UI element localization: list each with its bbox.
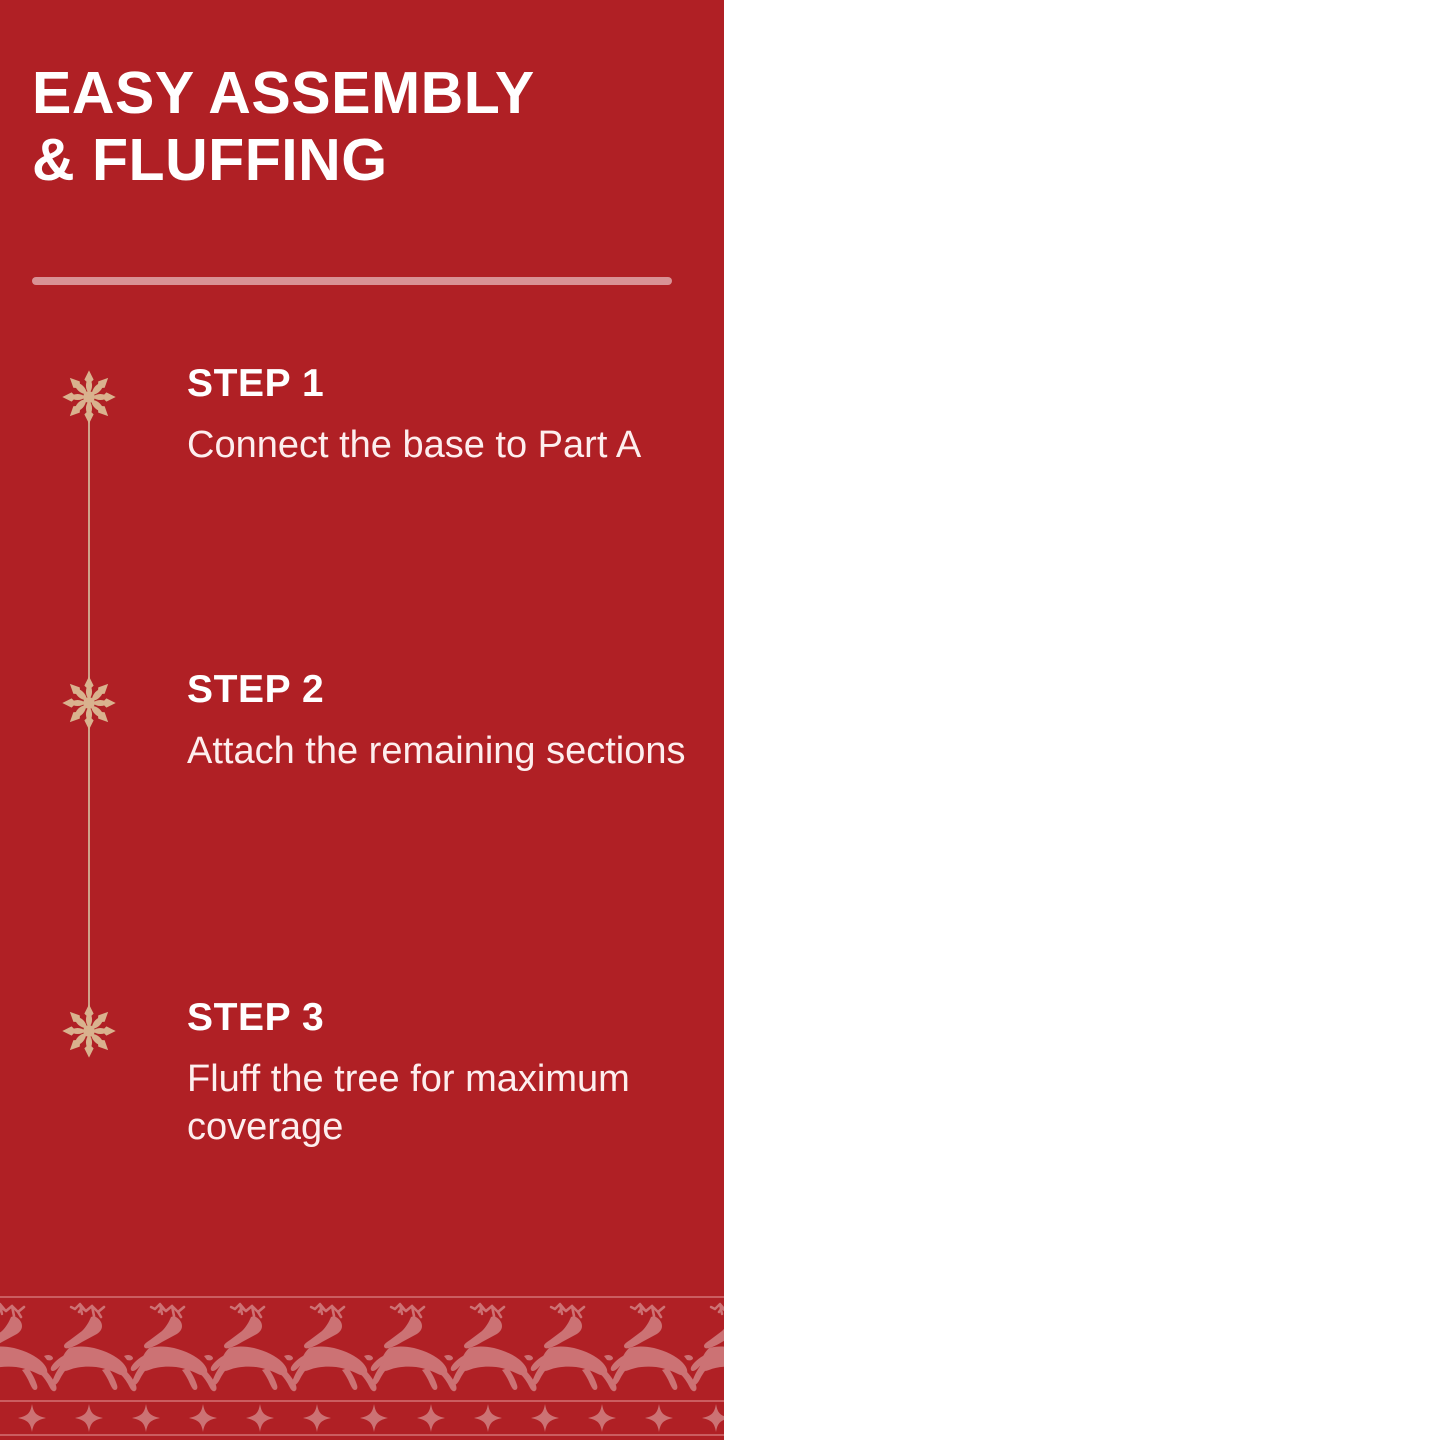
star-pattern-row	[0, 1404, 724, 1432]
product-infographic: EASY ASSEMBLY & FLUFFING	[0, 0, 1440, 1440]
border-rule-bottom	[0, 1434, 724, 1436]
border-rule-middle	[0, 1400, 724, 1402]
snowflake-icon	[60, 1002, 118, 1060]
step-label: STEP 1	[187, 362, 324, 406]
page-title: EASY ASSEMBLY & FLUFFING	[32, 60, 692, 195]
step-label: STEP 2	[187, 668, 324, 712]
snowflake-icon	[60, 674, 118, 732]
snowflake-icon	[60, 368, 118, 426]
title-divider	[32, 277, 672, 285]
instructions-panel: EASY ASSEMBLY & FLUFFING	[0, 0, 724, 1440]
page-title-line-2: & FLUFFING	[32, 127, 692, 194]
holiday-border	[0, 1274, 724, 1440]
page-title-line-1: EASY ASSEMBLY	[32, 60, 535, 126]
step-description: Attach the remaining sections	[187, 728, 687, 776]
reindeer-pattern-row	[0, 1300, 724, 1398]
product-image	[724, 0, 1440, 1440]
step-description: Connect the base to Part A	[187, 422, 687, 470]
step-label: STEP 3	[187, 996, 324, 1040]
step-description: Fluff the tree for maximum coverage	[187, 1056, 687, 1152]
border-rule-top	[0, 1296, 724, 1298]
